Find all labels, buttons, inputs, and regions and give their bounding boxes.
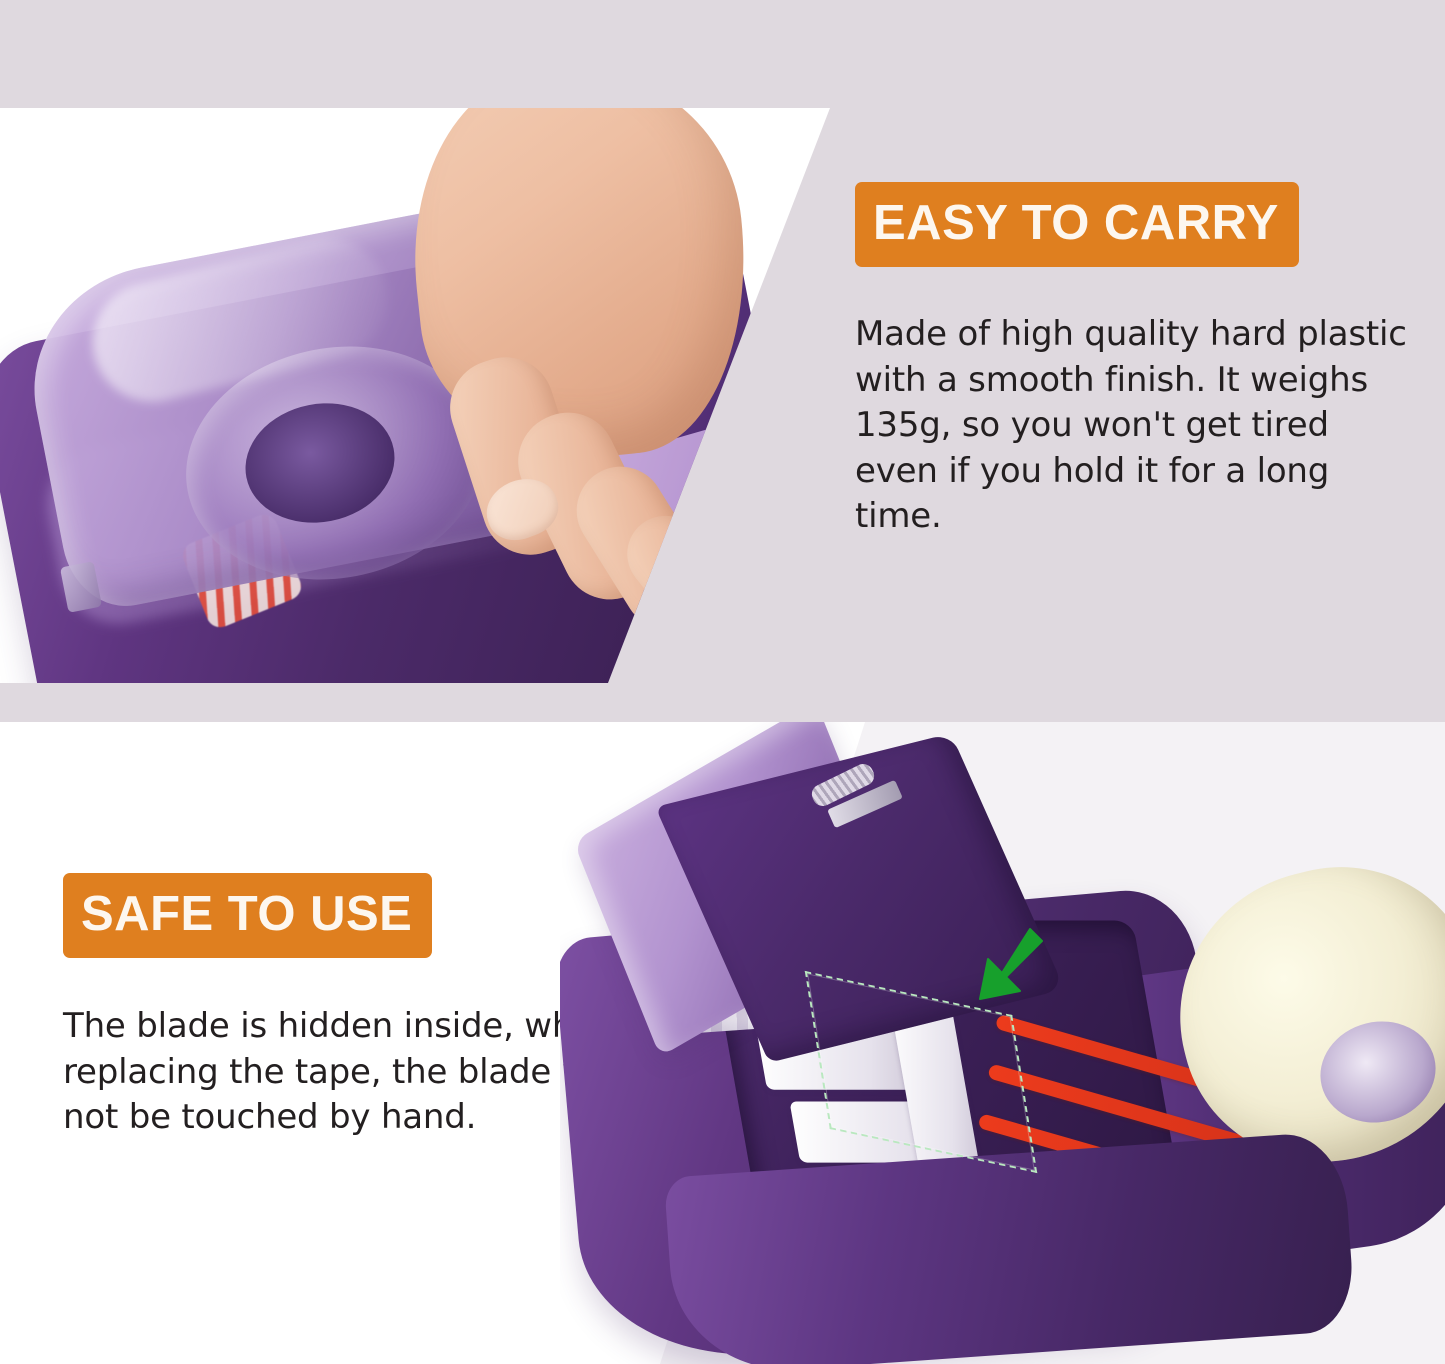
text-column-safe-to-use: SAFE TO USE The blade is hidden inside, … <box>63 873 643 1141</box>
section-easy-to-carry: EAGLE Pressure Sensitive Tape Dispenser … <box>0 0 1445 722</box>
green-arrow-icon <box>972 927 1044 1009</box>
body-text-safe-to-use: The blade is hidden inside, when replaci… <box>63 1004 623 1141</box>
section-safe-to-use: SAFE TO USE The blade is hidden inside, … <box>0 722 1445 1364</box>
product-photo-easy-to-carry: EAGLE Pressure Sensitive Tape Dispenser … <box>0 108 900 683</box>
text-column-easy-to-carry: EASY TO CARRY Made of high quality hard … <box>855 182 1415 540</box>
headline-badge-safe-to-use: SAFE TO USE <box>63 873 432 958</box>
body-text-easy-to-carry: Made of high quality hard plastic with a… <box>855 312 1415 540</box>
top-background-band <box>0 0 1445 108</box>
product-photo-safe-to-use <box>560 722 1445 1364</box>
photo-inner-top: EAGLE Pressure Sensitive Tape Dispenser … <box>0 108 900 683</box>
headline-badge-easy-to-carry: EASY TO CARRY <box>855 182 1299 267</box>
